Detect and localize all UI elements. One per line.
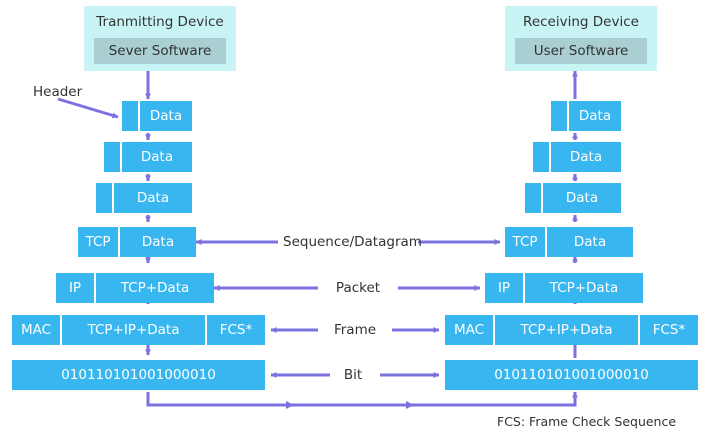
right-tcp-header: TCP [505,227,545,257]
left-ip-payload: TCP+Data [96,273,214,303]
right-data2-payload: Data [551,142,621,172]
right-bit-stream: 010110101001000010 [445,360,698,390]
transmitting-device-panel: Tranmitting Device Sever Software [84,6,236,71]
right-data3-header [525,183,541,213]
right-tcp-payload: Data [547,227,633,257]
user-software-box: User Software [515,38,647,64]
left-fcs-trailer: FCS* [207,315,265,345]
right-data1-payload: Data [569,101,621,131]
medium-flow-tick-1 [286,401,294,409]
left-tcp-payload: Data [120,227,196,257]
label-packet: Packet [323,280,393,296]
left-ip-header: IP [56,273,94,303]
right-data3-payload: Data [543,183,621,213]
right-mac-header: MAC [445,315,493,345]
receiving-device-panel: Receiving Device User Software [505,6,657,71]
receiving-device-title: Receiving Device [505,14,657,30]
left-bit-stream: 010110101001000010 [12,360,265,390]
physical-medium-path [148,392,575,405]
label-frame: Frame [323,322,387,338]
label-bit: Bit [331,367,375,383]
right-ip-payload: TCP+Data [525,273,643,303]
left-data2-header [104,142,120,172]
left-data2-payload: Data [122,142,192,172]
left-mac-header: MAC [12,315,60,345]
header-callout-label: Header [33,84,82,100]
left-data3-header [96,183,112,213]
left-data1-payload: Data [140,101,192,131]
medium-flow-tick-2 [406,401,414,409]
right-data2-header [533,142,549,172]
left-tcp-header: TCP [78,227,118,257]
sever-software-box: Sever Software [94,38,226,64]
left-mac-payload: TCP+IP+Data [62,315,205,345]
label-sequence-datagram: Sequence/Datagram [283,234,413,250]
arrow-header-callout [58,99,118,117]
right-ip-header: IP [485,273,523,303]
left-data3-payload: Data [114,183,192,213]
transmitting-device-title: Tranmitting Device [84,14,236,30]
diagram-canvas: Tranmitting Device Sever Software Receiv… [0,0,710,440]
right-fcs-trailer: FCS* [640,315,698,345]
left-data1-header [122,101,138,131]
right-mac-payload: TCP+IP+Data [495,315,638,345]
right-data1-header [551,101,567,131]
fcs-footnote: FCS: Frame Check Sequence [497,414,676,429]
